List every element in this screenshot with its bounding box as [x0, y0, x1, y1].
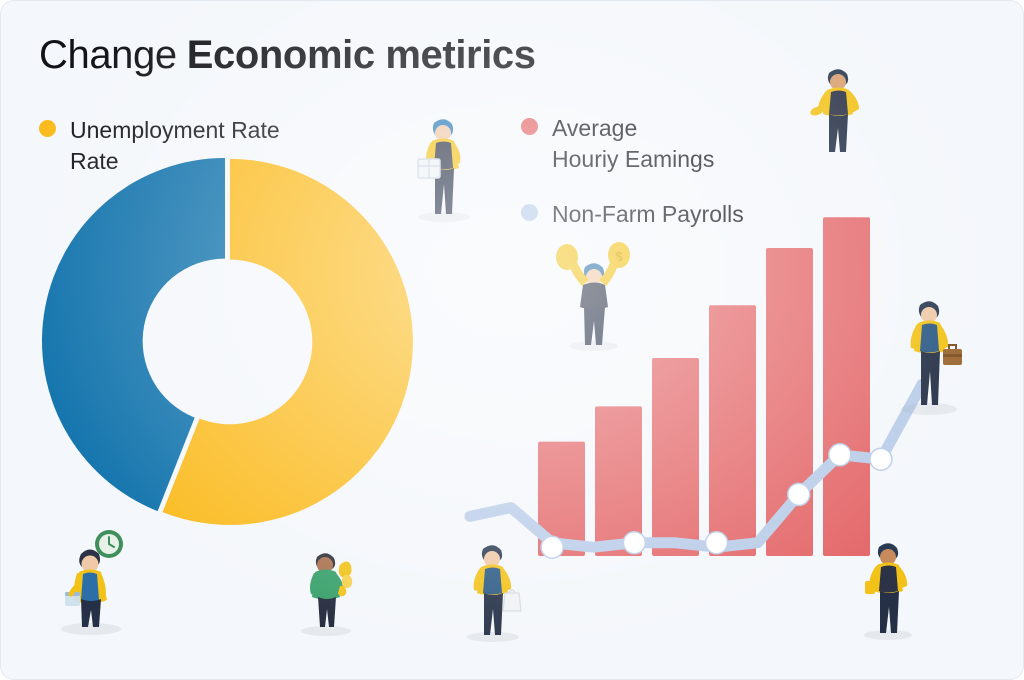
line-marker[interactable]	[788, 483, 810, 505]
worker-with-clock-illustration	[43, 526, 139, 636]
person-with-bag-illustration	[453, 539, 533, 643]
bar-line-chart	[456, 101, 956, 581]
person-on-tallest-bar-illustration	[807, 63, 871, 155]
person-with-money-illustration	[293, 541, 371, 637]
bar[interactable]	[823, 217, 870, 556]
bar[interactable]	[709, 305, 756, 556]
title-prefix: Change	[39, 33, 177, 77]
line-marker[interactable]	[541, 536, 563, 558]
donut-chart-svg	[33, 141, 423, 541]
line-marker[interactable]	[623, 532, 645, 554]
worker-bottom-right-illustration	[851, 537, 925, 641]
infographic-canvas: ChangeEconomic metirics Unemployment Rat…	[0, 0, 1024, 680]
line-marker[interactable]	[706, 532, 728, 554]
businessperson-briefcase-illustration	[891, 293, 973, 415]
delivery-person-with-box-illustration	[406, 111, 484, 223]
line-marker[interactable]	[870, 448, 892, 470]
person-celebrating-coins-illustration: $	[549, 241, 639, 351]
page-title: ChangeEconomic metirics	[39, 33, 536, 78]
title-main: Economic metirics	[187, 33, 536, 77]
bar[interactable]	[652, 358, 699, 556]
bar-line-chart-svg	[456, 101, 956, 581]
legend-dot-icon	[39, 120, 56, 137]
line-marker[interactable]	[829, 444, 851, 466]
donut-chart	[33, 141, 423, 541]
